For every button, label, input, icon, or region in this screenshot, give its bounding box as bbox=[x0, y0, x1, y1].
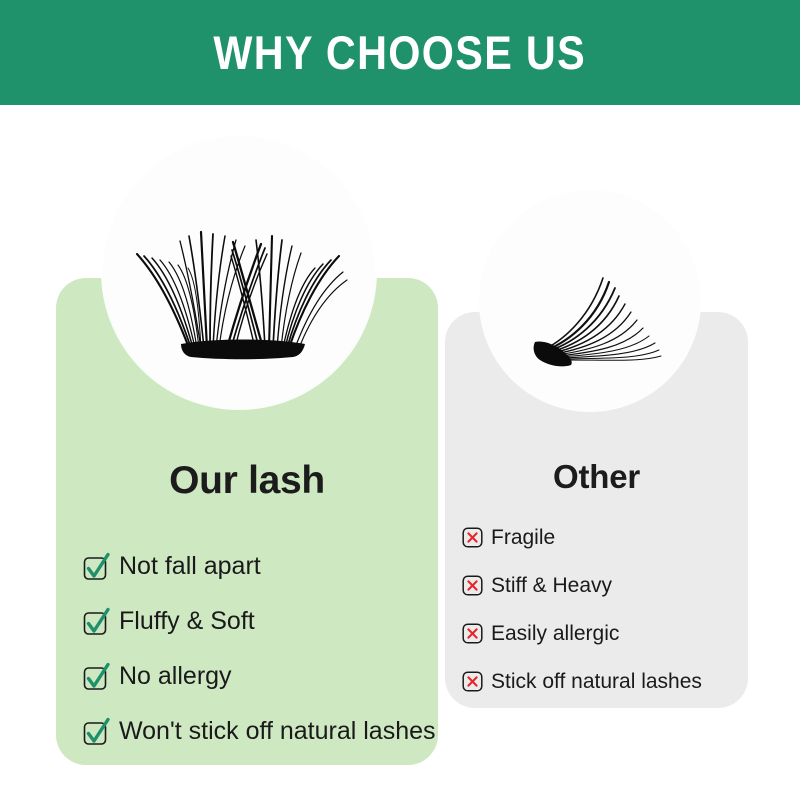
feature-label: Fragile bbox=[491, 527, 555, 548]
feature-label: Not fall apart bbox=[119, 554, 261, 579]
list-item: Stick off natural lashes bbox=[462, 657, 702, 705]
header-banner: WHY CHOOSE US bbox=[0, 0, 800, 105]
other-heading: Other bbox=[445, 460, 748, 493]
flat-lash-strip-graphic bbox=[479, 190, 701, 412]
feature-label: Stiff & Heavy bbox=[491, 575, 612, 596]
list-item: No allergy bbox=[83, 649, 436, 704]
page-title: WHY CHOOSE US bbox=[214, 29, 587, 76]
list-item: Stiff & Heavy bbox=[462, 561, 702, 609]
list-item: Fluffy & Soft bbox=[83, 594, 436, 649]
feature-label: No allergy bbox=[119, 664, 232, 689]
other-product-image bbox=[479, 190, 701, 412]
other-feature-list: Fragile Stiff & Heavy Ea bbox=[462, 513, 702, 705]
cross-icon bbox=[462, 671, 483, 692]
our-lash-feature-list: Not fall apart Fluffy & Soft bbox=[83, 539, 436, 759]
list-item: Easily allergic bbox=[462, 609, 702, 657]
feature-label: Won't stick off natural lashes bbox=[119, 719, 436, 744]
cross-icon bbox=[462, 575, 483, 596]
check-icon bbox=[83, 662, 110, 691]
check-icon bbox=[83, 607, 110, 636]
feature-label: Fluffy & Soft bbox=[119, 609, 255, 634]
list-item: Fragile bbox=[462, 513, 702, 561]
check-icon bbox=[83, 717, 110, 746]
our-lash-product-image bbox=[103, 136, 375, 408]
check-icon bbox=[83, 552, 110, 581]
feature-label: Easily allergic bbox=[491, 623, 619, 644]
feature-label: Stick off natural lashes bbox=[491, 671, 702, 692]
fluffy-lash-cluster-graphic bbox=[103, 136, 375, 408]
cross-icon bbox=[462, 623, 483, 644]
list-item: Not fall apart bbox=[83, 539, 436, 594]
our-lash-heading: Our lash bbox=[56, 461, 438, 500]
infographic-page: WHY CHOOSE US Our lash Not fall apart bbox=[0, 0, 800, 800]
list-item: Won't stick off natural lashes bbox=[83, 704, 436, 759]
cross-icon bbox=[462, 527, 483, 548]
